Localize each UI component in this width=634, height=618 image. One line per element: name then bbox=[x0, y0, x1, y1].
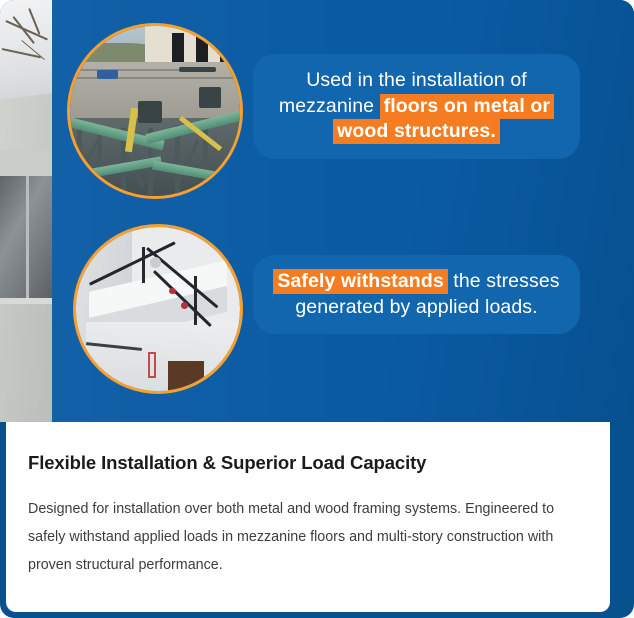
callout-text-highlight: Safely withstands bbox=[273, 269, 447, 294]
building-window bbox=[172, 33, 184, 62]
guardrail-post bbox=[194, 276, 197, 325]
beam-connector-plate bbox=[199, 87, 221, 107]
background-building-photo bbox=[0, 0, 60, 422]
info-card: Flexible Installation & Superior Load Ca… bbox=[6, 422, 610, 612]
deck-material bbox=[179, 67, 216, 72]
blue-bucket bbox=[97, 70, 117, 79]
deck-seam bbox=[70, 77, 240, 79]
callout-installation: Used in the installation of mezzanine fl… bbox=[253, 54, 580, 159]
building-window bbox=[220, 33, 232, 62]
card-body: Designed for installation over both meta… bbox=[28, 496, 588, 580]
building-wall-lower bbox=[0, 304, 60, 422]
window-mullion bbox=[26, 176, 29, 302]
photo-inner bbox=[70, 26, 240, 196]
red-fitting bbox=[181, 302, 188, 309]
guardrail-post bbox=[142, 247, 145, 283]
doorway bbox=[168, 361, 204, 391]
photo-inner bbox=[76, 227, 240, 391]
building-window bbox=[196, 33, 208, 62]
beam-connector-plate bbox=[138, 101, 162, 123]
callout-load: Safely withstands the stresses generated… bbox=[253, 255, 580, 334]
lower-ceiling bbox=[86, 322, 240, 391]
promo-card-root: Used in the installation of mezzanine fl… bbox=[0, 0, 634, 618]
circle-photo-mezzanine-underside bbox=[73, 224, 243, 394]
wall-panel-outline bbox=[148, 352, 156, 378]
deck-seam bbox=[70, 69, 189, 71]
circle-photo-rooftop-joists bbox=[67, 23, 243, 199]
card-title: Flexible Installation & Superior Load Ca… bbox=[28, 452, 588, 474]
window-glass bbox=[0, 176, 60, 302]
